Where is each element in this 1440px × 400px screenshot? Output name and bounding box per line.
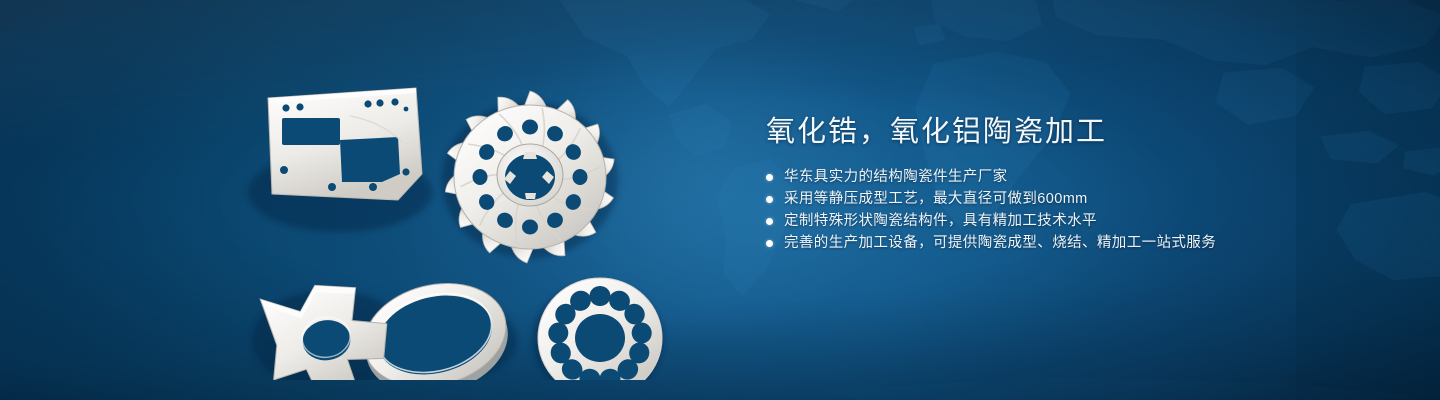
list-item-label: 定制特殊形状陶瓷结构件，具有精加工技术水平: [784, 210, 1097, 232]
page-title: 氧化锆，氧化铝陶瓷加工: [766, 112, 1326, 152]
bullet-dot-icon: [766, 196, 773, 203]
list-item: 采用等静压成型工艺，最大直径可做到600mm: [766, 188, 1326, 210]
ceramic-perforated-disc-part: [538, 278, 662, 380]
bullet-dot-icon: [766, 218, 773, 225]
bullet-dot-icon: [766, 174, 773, 181]
feature-list: 华东具实力的结构陶瓷件生产厂家 采用等静压成型工艺，最大直径可做到600mm 定…: [766, 166, 1326, 254]
ceramic-processing-banner: 氧化锆，氧化铝陶瓷加工 华东具实力的结构陶瓷件生产厂家 采用等静压成型工艺，最大…: [0, 0, 1440, 400]
ceramic-parts-photo: [230, 40, 700, 380]
list-item: 完善的生产加工设备，可提供陶瓷成型、烧结、精加工一站式服务: [766, 232, 1326, 254]
list-item-label: 华东具实力的结构陶瓷件生产厂家: [784, 166, 1008, 188]
list-item: 华东具实力的结构陶瓷件生产厂家: [766, 166, 1326, 188]
ceramic-plate-part: [268, 88, 422, 200]
list-item-label: 采用等静压成型工艺，最大直径可做到600mm: [784, 188, 1088, 210]
list-item-label: 完善的生产加工设备，可提供陶瓷成型、烧结、精加工一站式服务: [784, 232, 1216, 254]
list-item: 定制特殊形状陶瓷结构件，具有精加工技术水平: [766, 210, 1326, 232]
banner-copy: 氧化锆，氧化铝陶瓷加工 华东具实力的结构陶瓷件生产厂家 采用等静压成型工艺，最大…: [766, 112, 1326, 254]
bullet-dot-icon: [766, 240, 773, 247]
ceramic-impeller-part: [442, 91, 618, 264]
